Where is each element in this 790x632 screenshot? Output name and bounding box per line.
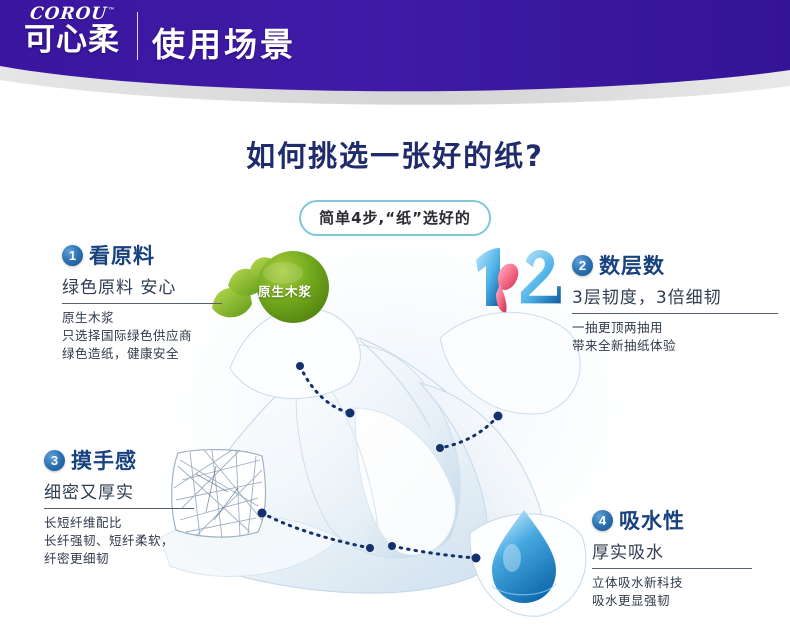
feature-2-heading: 2 数层数 (572, 250, 782, 280)
brand-chinese-name: 可心柔 (24, 24, 120, 57)
feature-1-heading: 1 看原料 (62, 240, 252, 270)
feature-block-1: 1 看原料 绿色原料 安心 原生木浆 只选择国际绿色供应商 绿色造纸，健康安全 (62, 240, 252, 363)
feature-3-body-line-1: 长短纤维配比 (44, 514, 234, 532)
feature-1-title: 看原料 (89, 240, 155, 270)
feature-1-body-line-3: 绿色造纸，健康安全 (62, 345, 252, 363)
feature-1-subtitle: 绿色原料 安心 (62, 273, 252, 298)
feature-4-number-badge: 4 (592, 510, 613, 531)
feature-2-body: 一抽更顶两抽用 带来全新抽纸体验 (572, 319, 782, 355)
dotted-connectors (262, 366, 498, 558)
feature-2-subtitle: 3层韧度，3倍细韧 (572, 283, 782, 308)
feature-1-body-line-1: 原生木浆 (62, 309, 252, 327)
feature-1-body-line-2: 只选择国际绿色供应商 (62, 327, 252, 345)
promo-page: COROU™ 可心柔 使用场景 如何挑选一张好的纸? 简单4步,“纸”选好的 (0, 0, 790, 632)
feature-3-divider (44, 508, 194, 509)
layers-one-two-icon (440, 248, 580, 414)
feature-1-body: 原生木浆 只选择国际绿色供应商 绿色造纸，健康安全 (62, 309, 252, 363)
page-header: COROU™ 可心柔 使用场景 (0, 0, 790, 112)
feature-3-body-line-2: 长纤强韧、短纤柔软， (44, 532, 234, 550)
feature-1-number-badge: 1 (62, 245, 83, 266)
feature-2-divider (572, 313, 778, 314)
header-divider (137, 12, 138, 60)
trademark-icon: ™ (107, 5, 115, 14)
feature-4-heading: 4 吸水性 (592, 505, 782, 535)
green-badge-label: 原生木浆 (258, 281, 312, 300)
feature-3-title: 摸手感 (71, 445, 137, 475)
feature-2-body-line-2: 带来全新抽纸体验 (572, 337, 782, 355)
brand-script-text: COROU™ (29, 6, 115, 23)
connector-4 (392, 546, 476, 558)
feature-3-number-badge: 3 (44, 450, 65, 471)
brand-logo: COROU™ 可心柔 (16, 6, 128, 68)
feature-4-body-line-1: 立体吸水新科技 (592, 574, 782, 592)
connector-1 (300, 366, 350, 413)
brand-script-label: COROU (29, 4, 108, 24)
subtitle-pill: 简单4步,“纸”选好的 (299, 200, 491, 236)
connector-2 (440, 416, 498, 448)
feature-2-number-badge: 2 (572, 255, 593, 276)
feature-3-subtitle: 细密又厚实 (44, 478, 234, 503)
feature-4-divider (592, 568, 752, 569)
feature-3-body: 长短纤维配比 长纤强韧、短纤柔软， 纤密更细韧 (44, 514, 234, 568)
feature-block-3: 3 摸手感 细密又厚实 长短纤维配比 长纤强韧、短纤柔软， 纤密更细韧 (44, 445, 234, 568)
feature-4-body: 立体吸水新科技 吸水更显强韧 (592, 574, 782, 610)
feature-2-title: 数层数 (599, 250, 665, 280)
water-drop-icon (470, 510, 586, 616)
connector-endpoints (258, 362, 503, 563)
feature-4-title: 吸水性 (619, 505, 685, 535)
feature-4-subtitle: 厚实吸水 (592, 538, 782, 563)
feature-block-2: 2 数层数 3层韧度，3倍细韧 一抽更顶两抽用 带来全新抽纸体验 (572, 250, 782, 355)
feature-2-body-line-1: 一抽更顶两抽用 (572, 319, 782, 337)
feature-4-body-line-2: 吸水更显强韧 (592, 592, 782, 610)
page-title: 如何挑选一张好的纸? (0, 133, 790, 175)
feature-3-body-line-3: 纤密更细韧 (44, 550, 234, 568)
header-title: 使用场景 (152, 18, 296, 66)
connector-3 (262, 513, 370, 548)
feature-block-4: 4 吸水性 厚实吸水 立体吸水新科技 吸水更显强韧 (592, 505, 782, 610)
feature-3-heading: 3 摸手感 (44, 445, 234, 475)
feature-1-divider (62, 303, 222, 304)
